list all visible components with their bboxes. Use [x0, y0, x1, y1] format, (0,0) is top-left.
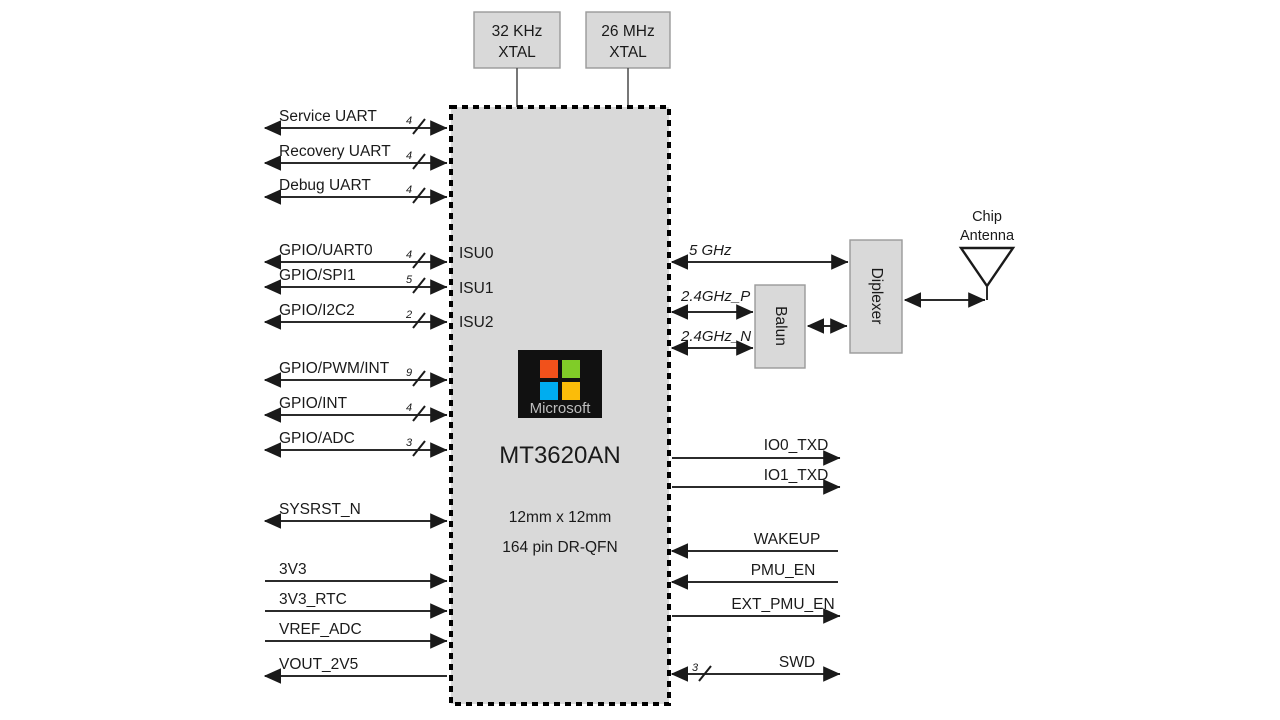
port-label-isu1: ISU1 [459, 280, 493, 297]
signal-recovery-uart: Recovery UART 4 [265, 143, 447, 169]
xtal-26mhz-line2: XTAL [609, 44, 647, 61]
chip-size: 12mm x 12mm [509, 509, 612, 526]
bus-slash [413, 406, 425, 421]
signal-gpio-int: GPIO/INT 4 [265, 395, 447, 421]
signal-label: GPIO/UART0 [279, 242, 373, 259]
port-label-isu2: ISU2 [459, 314, 493, 331]
signal-label: GPIO/ADC [279, 430, 355, 447]
bus-width-label: 4 [406, 402, 412, 414]
signal-3v3-rtc: 3V3_RTC [265, 591, 447, 611]
antenna-label-line1: Chip [972, 209, 1002, 225]
signal-swd: SWD 3 [672, 654, 840, 681]
signal-label: VOUT_2V5 [279, 656, 358, 673]
diplexer-label: Diplexer [868, 268, 885, 325]
diagram-svg: 32 KHz XTAL 26 MHz XTAL Service UART 4 R… [0, 0, 1280, 720]
signal-label: IO0_TXD [764, 437, 829, 454]
signal-label: EXT_PMU_EN [731, 596, 834, 613]
bus-width-label: 4 [406, 249, 412, 261]
balun-block: Balun [755, 285, 805, 368]
bus-width-label: 4 [406, 150, 412, 162]
signal-service-uart: Service UART 4 [265, 108, 447, 134]
port-label-isu0: ISU0 [459, 245, 494, 262]
signal-label: GPIO/SPI1 [279, 267, 356, 284]
signal-label: Recovery UART [279, 143, 391, 160]
bus-slash [413, 119, 425, 134]
diplexer-block: Diplexer [850, 240, 902, 353]
signal-label: VREF_ADC [279, 621, 362, 638]
balun-label: Balun [772, 306, 789, 346]
chip-name: MT3620AN [499, 442, 620, 469]
signal-label: GPIO/INT [279, 395, 348, 412]
bus-slash [413, 253, 425, 268]
bus-width-label: 4 [406, 184, 412, 196]
signal-gpio-adc: GPIO/ADC 3 [265, 430, 447, 456]
signal-label: GPIO/I2C2 [279, 302, 355, 319]
signal-label: SYSRST_N [279, 501, 361, 518]
signal-pmu-en: PMU_EN [672, 562, 838, 582]
signal-vref-adc: VREF_ADC [265, 621, 447, 641]
signal-label: Service UART [279, 108, 377, 125]
signal-label: 2.4GHz_P [680, 288, 750, 305]
bus-width-label: 3 [692, 662, 699, 674]
chip-package: 164 pin DR-QFN [502, 539, 617, 556]
bus-slash [413, 441, 425, 456]
signal-wakeup: WAKEUP [672, 531, 838, 551]
logo-square-green [562, 360, 580, 378]
signal-label: GPIO/PWM/INT [279, 360, 390, 377]
bus-width-label: 2 [405, 309, 412, 321]
bus-slash [413, 313, 425, 328]
bus-slash [413, 278, 425, 293]
signal-label: IO1_TXD [764, 467, 829, 484]
signal-label: 5 GHz [689, 242, 732, 259]
logo-square-red [540, 360, 558, 378]
signal-gpio-pwm-int: GPIO/PWM/INT 9 [265, 360, 447, 386]
signal-3v3: 3V3 [265, 561, 447, 581]
signal-io0-txd: IO0_TXD [672, 437, 840, 458]
signal-label: WAKEUP [754, 531, 821, 548]
signal-24ghz-p: 2.4GHz_P [672, 288, 753, 312]
bus-width-label: 9 [406, 367, 412, 379]
xtal-32khz-line1: 32 KHz [492, 23, 543, 40]
bus-width-label: 4 [406, 115, 412, 127]
signal-24ghz-n: 2.4GHz_N [672, 328, 753, 348]
signal-vout-2v5: VOUT_2V5 [265, 656, 447, 676]
signal-label: 3V3 [279, 561, 307, 578]
signal-label: 2.4GHz_N [680, 328, 751, 345]
signal-label: 3V3_RTC [279, 591, 347, 608]
antenna-label-line2: Antenna [960, 228, 1015, 244]
signal-ext-pmu-en: EXT_PMU_EN [672, 596, 840, 616]
bus-slash [413, 371, 425, 386]
antenna-triangle-icon [961, 248, 1013, 286]
signal-sysrst-n: SYSRST_N [265, 501, 447, 521]
signal-label: Debug UART [279, 177, 371, 194]
logo-square-yellow [562, 382, 580, 400]
xtal-26mhz-line1: 26 MHz [601, 23, 654, 40]
signal-io1-txd: IO1_TXD [672, 467, 840, 487]
signal-5ghz: 5 GHz [672, 242, 848, 262]
chip-antenna: Chip Antenna [960, 209, 1015, 300]
bus-width-label: 3 [406, 437, 413, 449]
signal-label: PMU_EN [751, 562, 816, 579]
signal-label: SWD [779, 654, 815, 671]
logo-square-blue [540, 382, 558, 400]
bus-slash [413, 188, 425, 203]
xtal-32khz-block: 32 KHz XTAL [474, 12, 560, 107]
logo-wordmark: Microsoft [530, 400, 592, 417]
signal-debug-uart: Debug UART 4 [265, 177, 447, 203]
bus-width-label: 5 [406, 274, 413, 286]
xtal-32khz-line2: XTAL [498, 44, 536, 61]
block-diagram-canvas: 32 KHz XTAL 26 MHz XTAL Service UART 4 R… [0, 0, 1280, 720]
xtal-26mhz-block: 26 MHz XTAL [586, 12, 670, 107]
bus-slash [413, 154, 425, 169]
microsoft-logo: Microsoft [518, 350, 602, 418]
